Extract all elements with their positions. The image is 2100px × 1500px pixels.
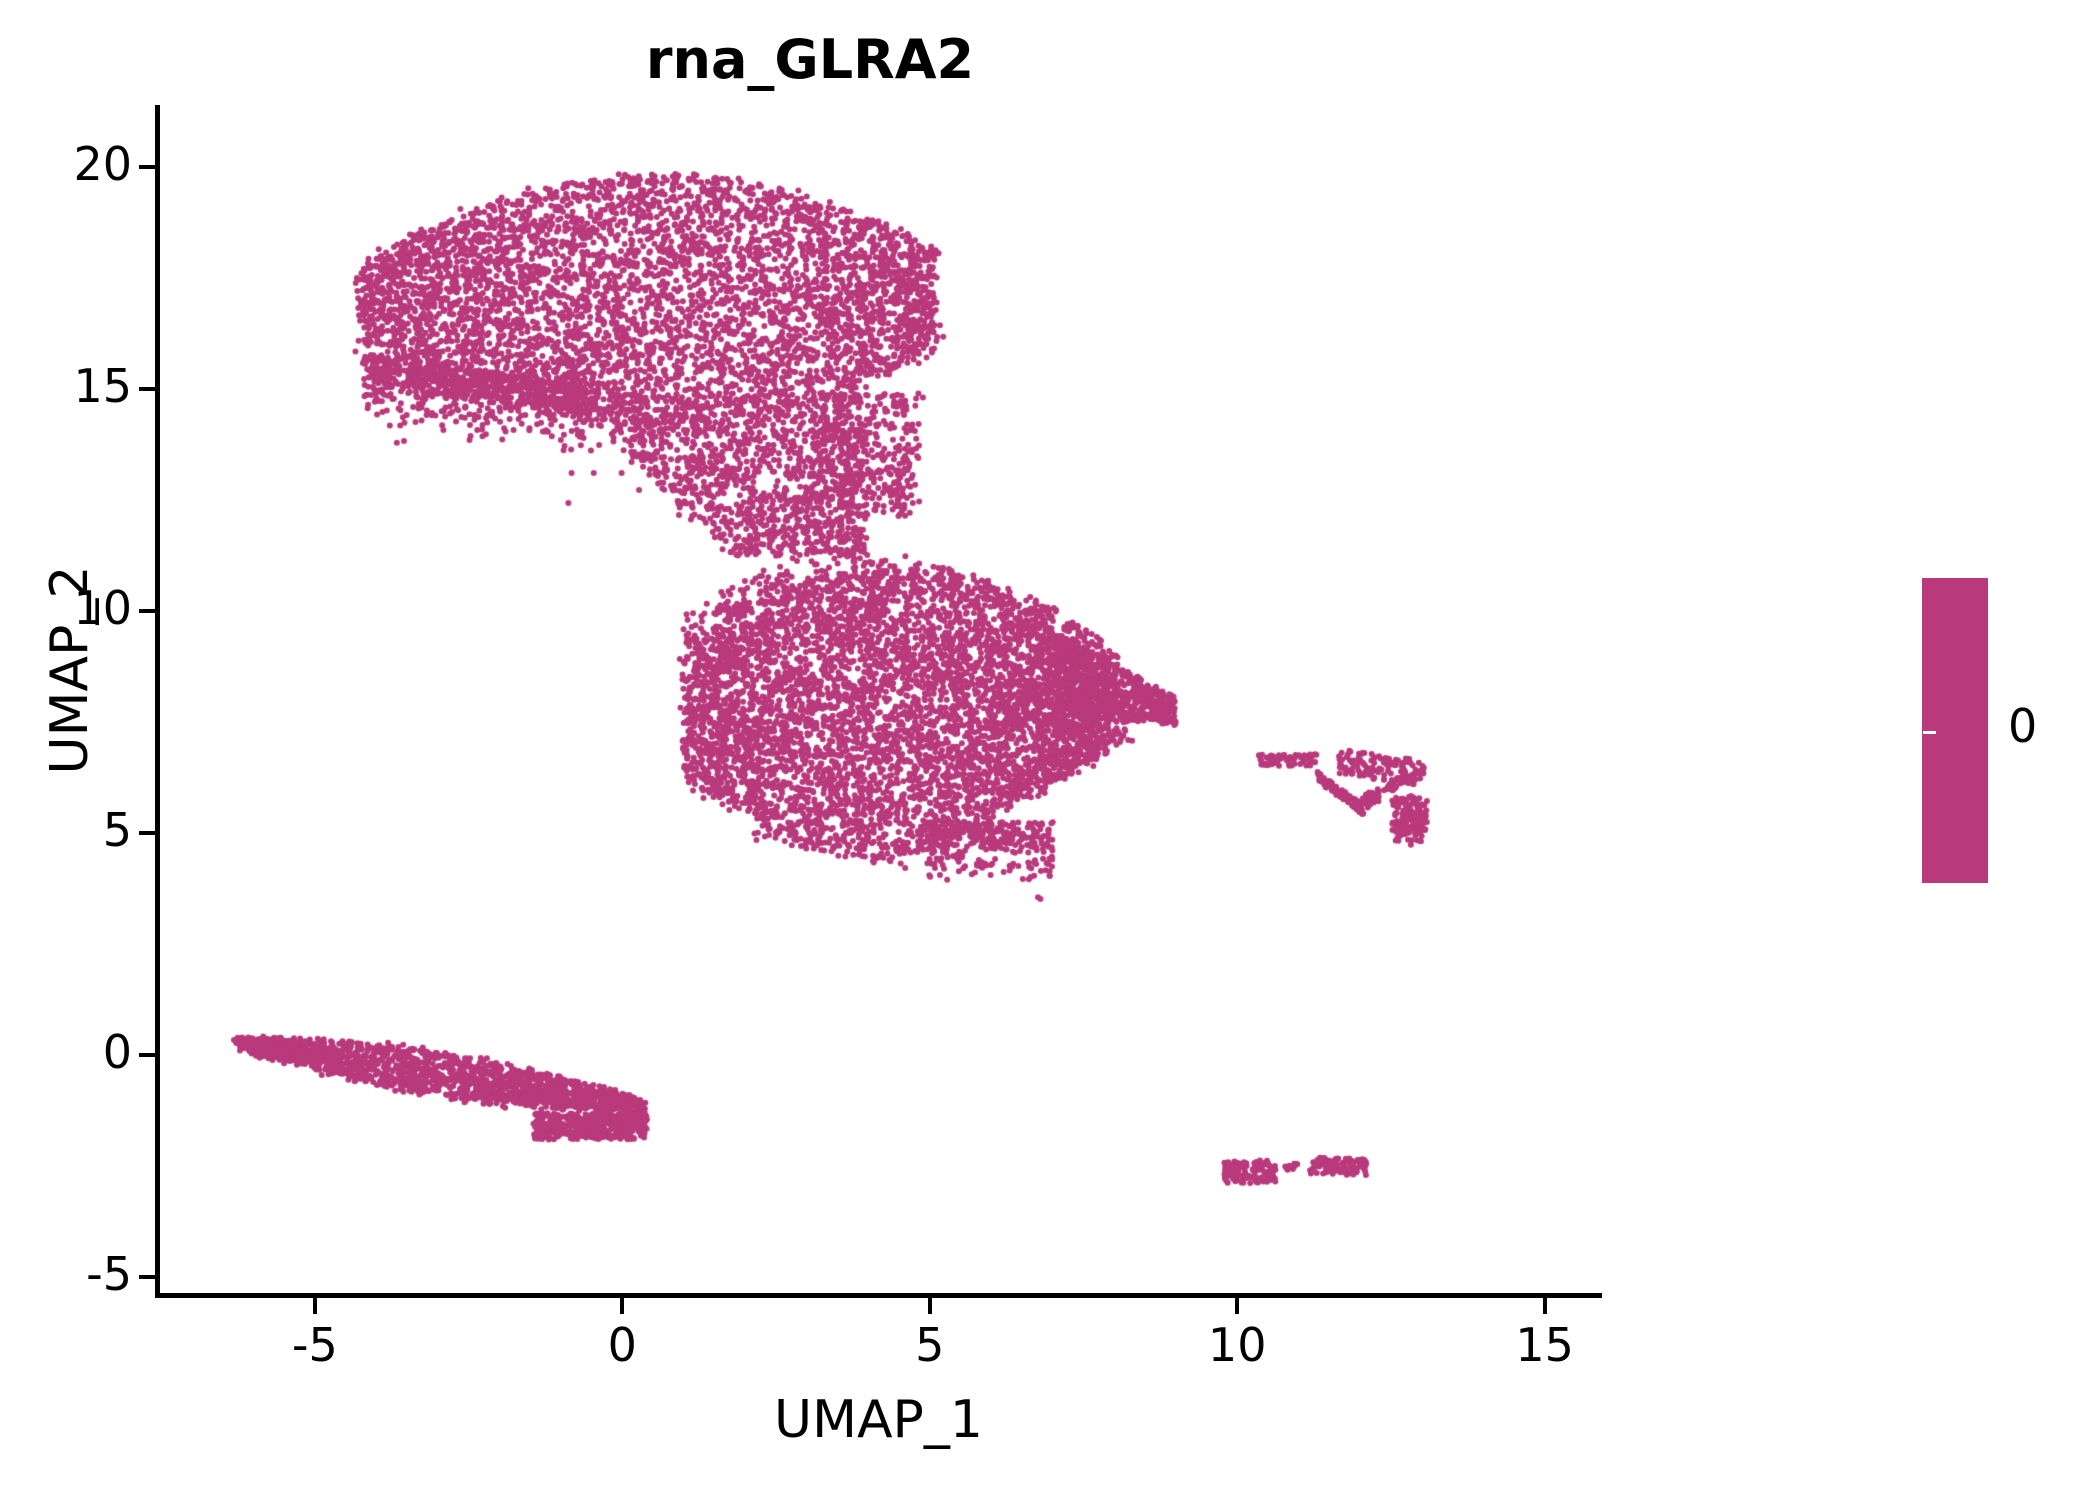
x-tick-label: 15 — [1465, 1318, 1625, 1372]
x-axis-title: UMAP_1 — [155, 1390, 1602, 1450]
x-tick-mark — [1235, 1298, 1239, 1314]
x-tick-mark — [313, 1298, 317, 1314]
colorbar: 0 — [1922, 578, 2092, 918]
scatter-plot-area — [155, 105, 1600, 1295]
x-tick-mark — [928, 1298, 932, 1314]
y-tick-mark — [139, 831, 155, 835]
y-tick-mark — [139, 1275, 155, 1279]
x-tick-label: 10 — [1157, 1318, 1317, 1372]
x-tick-label: 0 — [542, 1318, 702, 1372]
x-tick-label: 5 — [850, 1318, 1010, 1372]
x-tick-mark — [1543, 1298, 1547, 1314]
y-tick-mark — [139, 165, 155, 169]
y-axis-title: UMAP_2 — [40, 290, 100, 1050]
y-tick-label: 20 — [2, 137, 132, 191]
y-tick-mark — [139, 387, 155, 391]
colorbar-tick-right — [2078, 731, 2091, 734]
figure-canvas: rna_GLRA2 -505101520 -5051015 UMAP_1 UMA… — [0, 0, 2100, 1500]
colorbar-tick-left — [1923, 731, 1936, 734]
y-tick-label: -5 — [2, 1247, 132, 1301]
colorbar-tick-label: 0 — [2008, 699, 2037, 753]
y-tick-mark — [139, 1053, 155, 1057]
page-title: rna_GLRA2 — [0, 28, 1620, 91]
x-tick-label: -5 — [235, 1318, 395, 1372]
y-tick-mark — [139, 609, 155, 613]
x-tick-mark — [620, 1298, 624, 1314]
